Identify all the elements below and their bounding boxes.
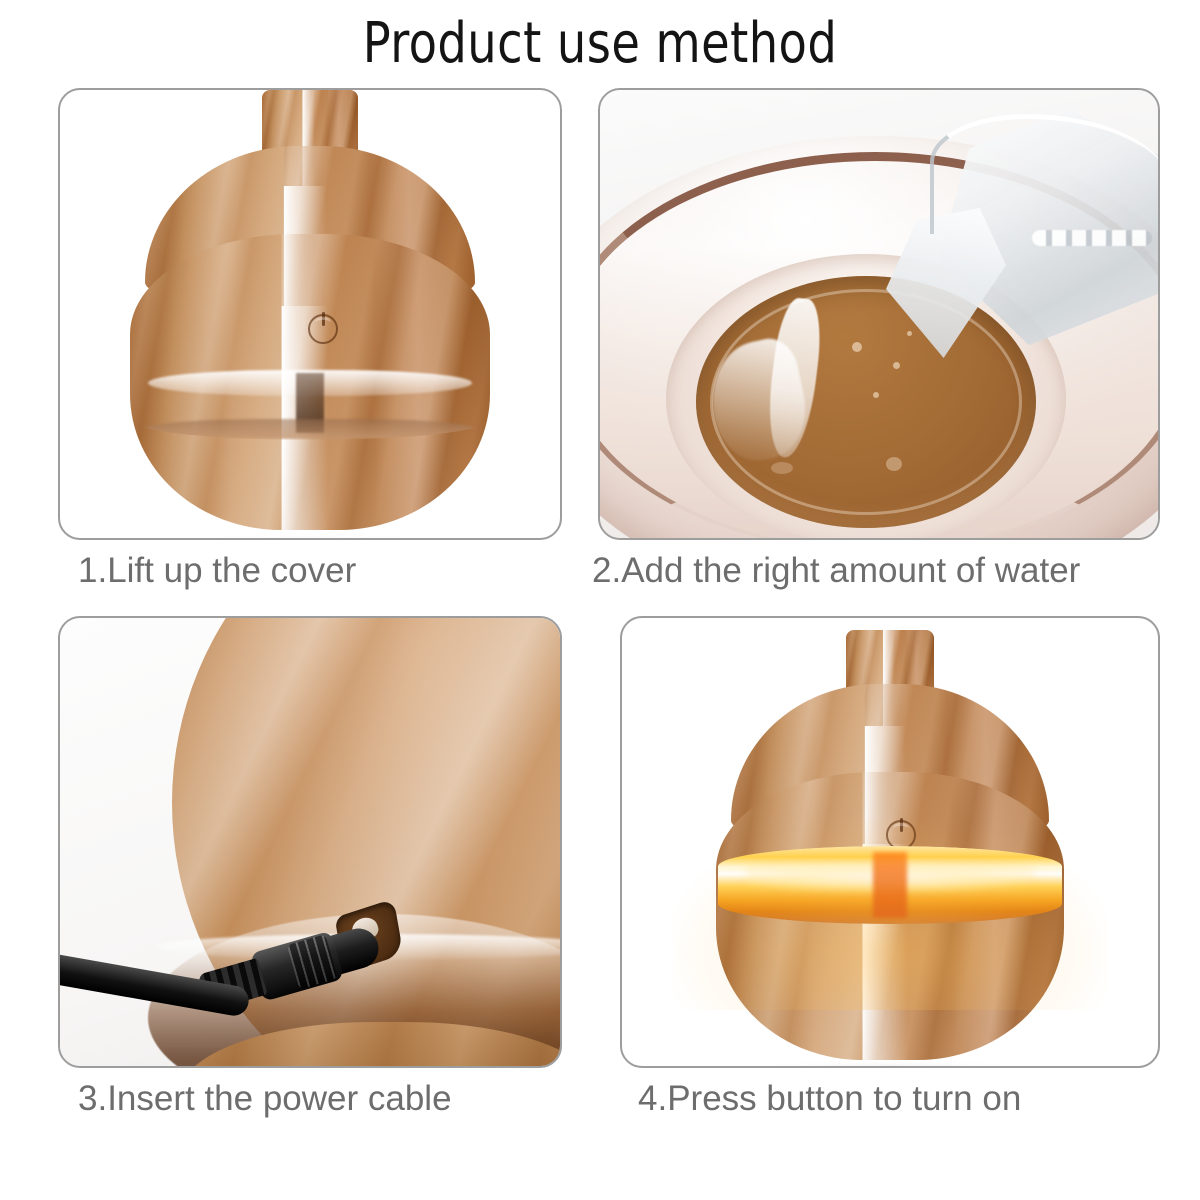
step-4-image-card [620,616,1160,1068]
step-2-scene [600,90,1158,538]
measuring-cup-scale [1032,230,1152,246]
diffuser-product-on [622,624,1158,1066]
step-3-image-card [58,616,562,1068]
step-3-scene [60,618,560,1066]
diffuser-light-band [134,366,486,440]
step-3-caption: 3.Insert the power cable [78,1078,452,1120]
step-4-scene [622,618,1158,1066]
step-1-scene [60,90,560,538]
step-1-image-card [58,88,562,540]
step-1-caption: 1.Lift up the cover [78,550,356,592]
diffuser-light-band-glowing [718,846,1062,924]
step-2-image-card [598,88,1160,540]
power-icon[interactable] [308,314,338,344]
measuring-cup-rim [930,114,1158,234]
steps-grid: 1.Lift up the cover [0,0,1200,1200]
diffuser-product [60,90,560,538]
step-2-caption: 2.Add the right amount of water [592,550,1080,592]
product-instruction-page: Product use method [0,0,1200,1200]
step-4-caption: 4.Press button to turn on [638,1078,1021,1120]
